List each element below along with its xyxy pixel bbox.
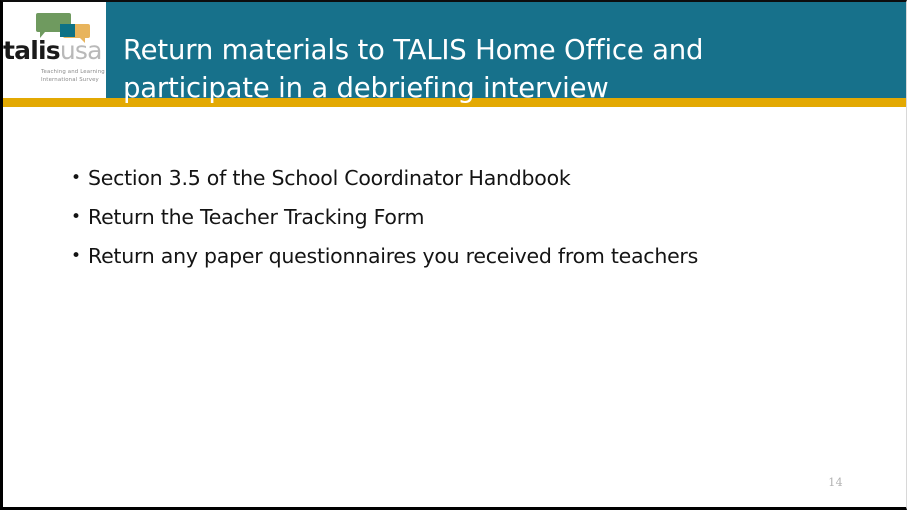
logo-tagline: Teaching and Learning International Surv… bbox=[41, 68, 111, 85]
logo-wordmark-usa: usa bbox=[60, 36, 102, 65]
bullet-point-icon: • bbox=[71, 165, 88, 191]
page-number: 14 bbox=[828, 476, 843, 489]
slide-title-line-1: Return materials to TALIS Home Office an… bbox=[123, 31, 823, 69]
list-item-label: Return the Teacher Tracking Form bbox=[88, 204, 861, 230]
talis-usa-logo: talisusa Teaching and Learning Internati… bbox=[3, 2, 106, 98]
logo-wordmark-talis: talis bbox=[3, 36, 60, 65]
bullet-point-icon: • bbox=[71, 204, 88, 230]
logo-tagline-line2: International Survey bbox=[41, 76, 111, 84]
logo-inner: talisusa Teaching and Learning Internati… bbox=[3, 10, 106, 92]
bullet-point-icon: • bbox=[71, 243, 88, 269]
slide-body: • Section 3.5 of the School Coordinator … bbox=[3, 107, 906, 507]
logo-wordmark: talisusa bbox=[3, 38, 106, 63]
logo-tagline-line1: Teaching and Learning bbox=[41, 68, 111, 76]
list-item: • Return any paper questionnaires you re… bbox=[71, 243, 861, 269]
list-item: • Return the Teacher Tracking Form bbox=[71, 204, 861, 230]
list-item: • Section 3.5 of the School Coordinator … bbox=[71, 165, 861, 191]
slide-title: Return materials to TALIS Home Office an… bbox=[123, 31, 823, 107]
bullet-list: • Section 3.5 of the School Coordinator … bbox=[71, 165, 861, 282]
presentation-slide: talisusa Teaching and Learning Internati… bbox=[0, 0, 907, 510]
list-item-label: Section 3.5 of the School Coordinator Ha… bbox=[88, 165, 861, 191]
list-item-label: Return any paper questionnaires you rece… bbox=[88, 243, 861, 269]
slide-title-line-2: participate in a debriefing interview bbox=[123, 69, 823, 107]
